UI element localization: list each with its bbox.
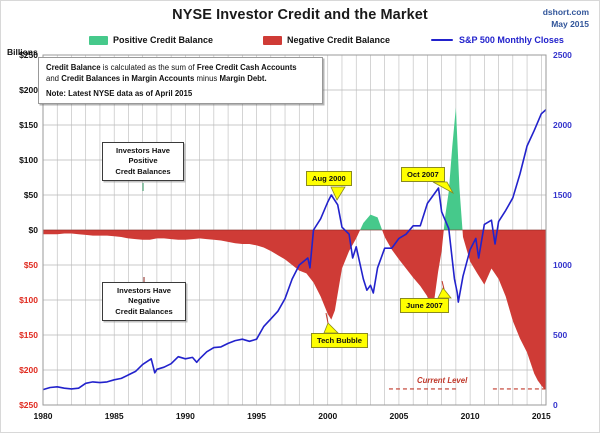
svg-text:2015: 2015	[532, 411, 551, 421]
svg-text:$200: $200	[19, 85, 38, 95]
svg-text:$150: $150	[19, 330, 38, 340]
svg-text:500: 500	[553, 330, 567, 340]
svg-text:$150: $150	[19, 120, 38, 130]
callout-june-2007: June 2007	[400, 298, 449, 313]
svg-text:1995: 1995	[247, 411, 266, 421]
svg-text:0: 0	[553, 400, 558, 410]
note-line-3: Note: Latest NYSE data as of April 2015	[46, 88, 316, 99]
callout-aug-2000: Aug 2000	[306, 171, 352, 186]
note-term-free-credit: Free Credit Cash Accounts	[197, 63, 297, 72]
svg-text:$100: $100	[19, 295, 38, 305]
svg-text:2500: 2500	[553, 50, 572, 60]
note-line-2: and Credit Balances in Margin Accounts m…	[46, 73, 316, 84]
callout-investors-positive: Investors HavePositiveCredt Balances	[102, 142, 184, 181]
svg-text:$0: $0	[29, 225, 39, 235]
svg-text:1985: 1985	[105, 411, 124, 421]
svg-text:2000: 2000	[553, 120, 572, 130]
svg-text:1980: 1980	[34, 411, 53, 421]
svg-text:$200: $200	[19, 365, 38, 375]
svg-text:$100: $100	[19, 155, 38, 165]
note-text-2b: minus	[194, 74, 219, 83]
note-text-1: is calculated as the sum of	[101, 63, 197, 72]
callout-positive-text: Investors HavePositiveCredt Balances	[115, 146, 170, 176]
svg-text:$50: $50	[24, 190, 38, 200]
note-text-2a: and	[46, 74, 61, 83]
callout-negative-text: Investors HaveNegativeCredit Balances	[115, 286, 172, 316]
chart-container: NYSE Investor Credit and the Market dsho…	[0, 0, 600, 433]
note-term-credit-balances-margin: Credit Balances in Margin Accounts	[61, 74, 194, 83]
svg-text:2005: 2005	[389, 411, 408, 421]
methodology-note-box: Credit Balance is calculated as the sum …	[38, 57, 323, 104]
note-term-credit-balance: Credit Balance	[46, 63, 101, 72]
note-line-1: Credit Balance is calculated as the sum …	[46, 62, 316, 73]
svg-text:1000: 1000	[553, 260, 572, 270]
svg-text:2010: 2010	[461, 411, 480, 421]
svg-text:1500: 1500	[553, 190, 572, 200]
callout-tech-bubble: Tech Bubble	[311, 333, 368, 348]
current-level-label: Current Level	[417, 376, 467, 385]
callout-oct-2007: Oct 2007	[401, 167, 445, 182]
note-term-margin-debt: Margin Debt.	[219, 74, 266, 83]
svg-text:2000: 2000	[318, 411, 337, 421]
svg-text:$250: $250	[19, 400, 38, 410]
callout-investors-negative: Investors HaveNegativeCredit Balances	[102, 282, 186, 321]
svg-text:$50: $50	[24, 260, 38, 270]
svg-text:$250: $250	[19, 50, 38, 60]
svg-text:1990: 1990	[176, 411, 195, 421]
